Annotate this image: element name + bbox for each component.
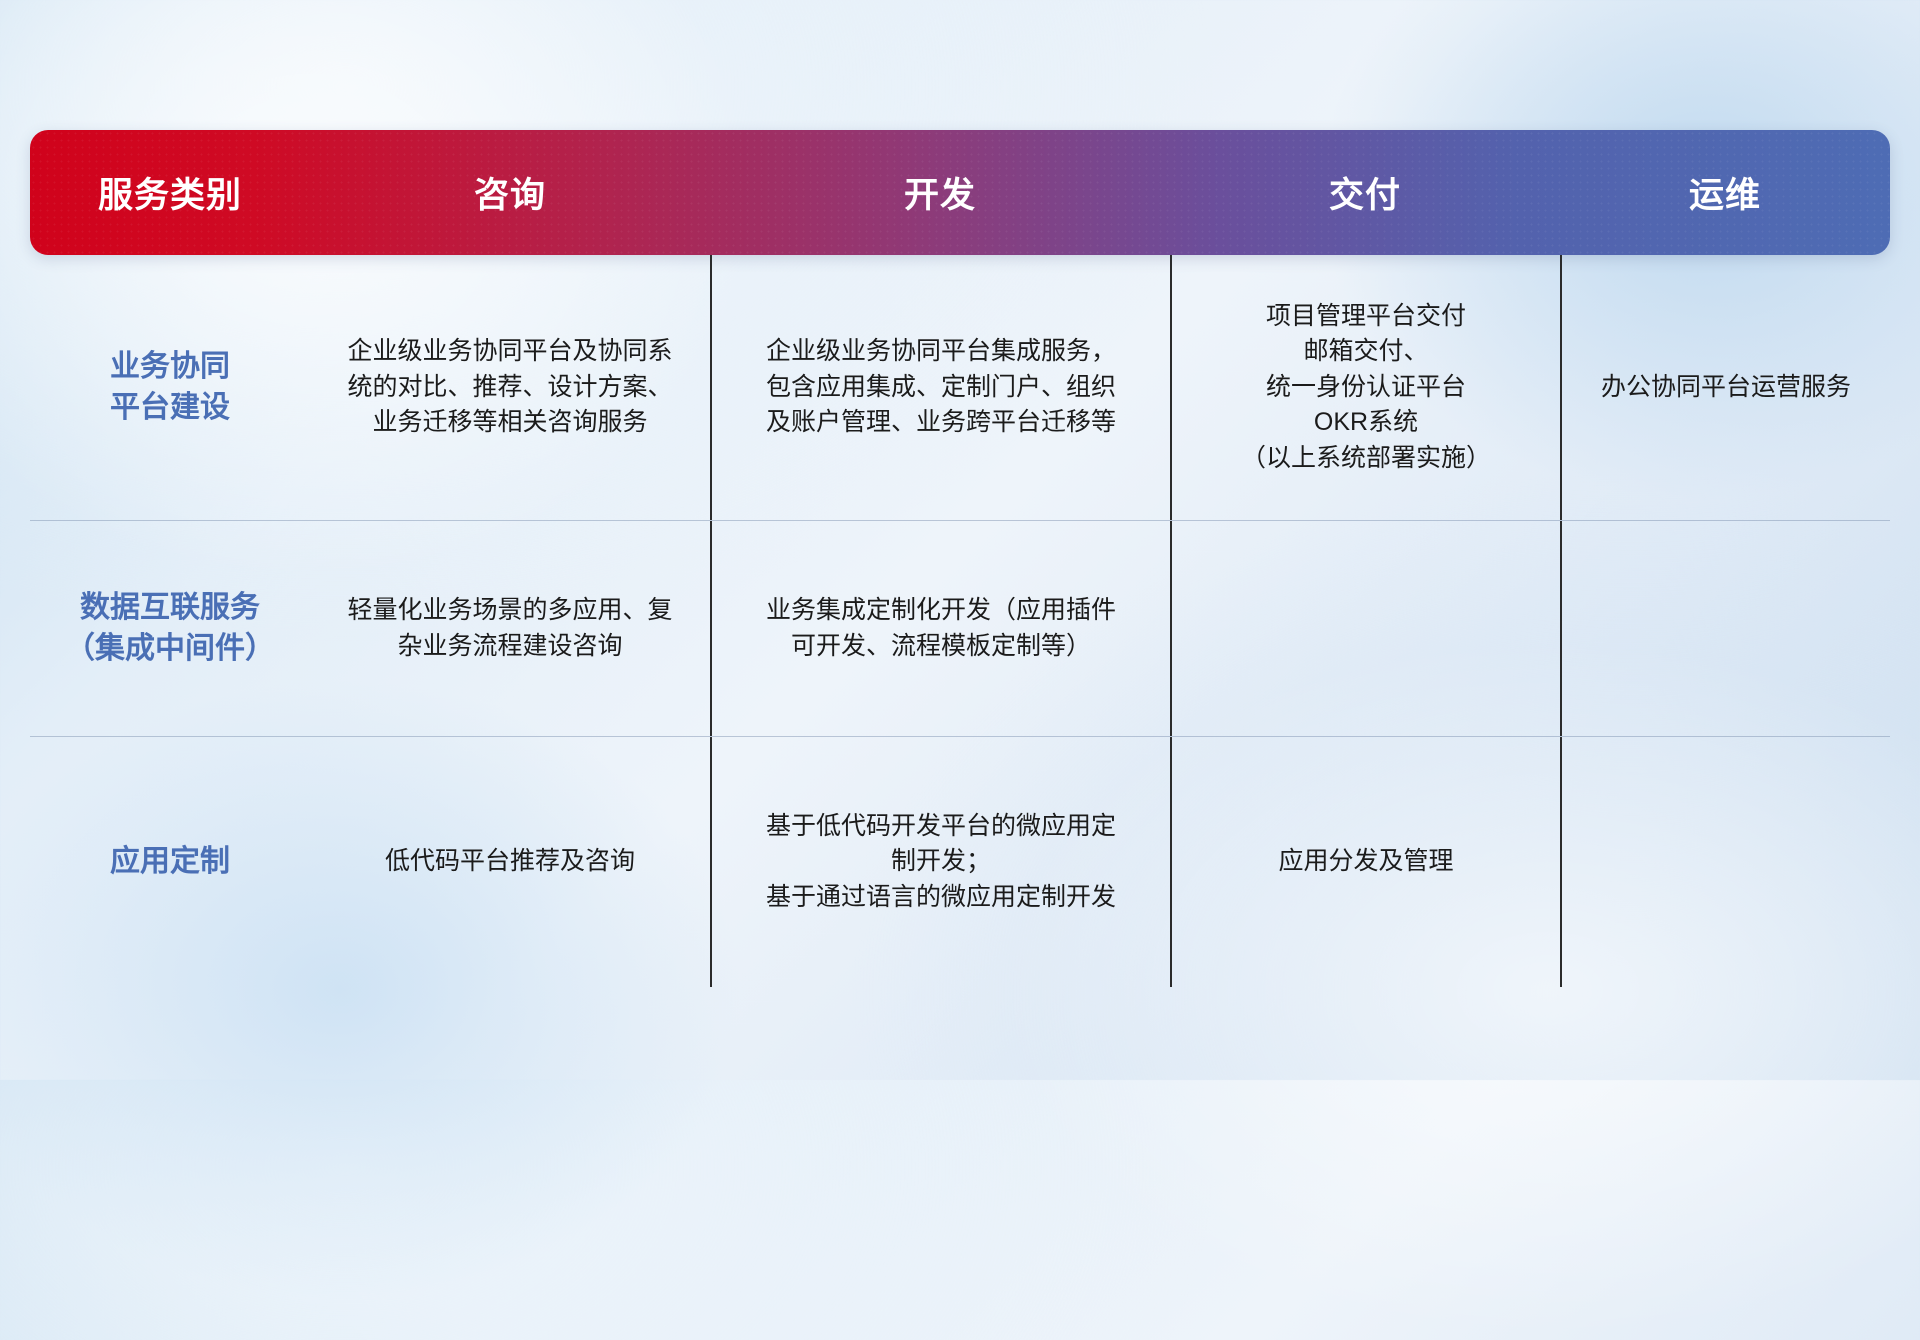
cell-category: 应用定制 — [30, 737, 310, 987]
cell-delivery: 项目管理平台交付 邮箱交付、 统一身份认证平台 OKR系统 （以上系统部署实施） — [1170, 255, 1560, 520]
cell-operations — [1560, 737, 1890, 987]
cell-consulting: 企业级业务协同平台及协同系 统的对比、推荐、设计方案、 业务迁移等相关咨询服务 — [310, 255, 710, 520]
cell-delivery — [1170, 521, 1560, 736]
cell-delivery: 应用分发及管理 — [1170, 737, 1560, 987]
cell-consulting: 低代码平台推荐及咨询 — [310, 737, 710, 987]
table-row: 业务协同 平台建设 企业级业务协同平台及协同系 统的对比、推荐、设计方案、 业务… — [30, 255, 1890, 521]
table-row: 应用定制 低代码平台推荐及咨询 基于低代码开发平台的微应用定 制开发； 基于通过… — [30, 737, 1890, 987]
column-header-category: 服务类别 — [30, 167, 310, 218]
cell-category: 数据互联服务 （集成中间件） — [30, 521, 310, 736]
column-header-consulting: 咨询 — [310, 167, 710, 218]
service-category-table: 服务类别 咨询 开发 交付 运维 业务协同 平台建设 企业级业务协同平台及协同系… — [30, 130, 1890, 987]
column-header-development: 开发 — [710, 167, 1170, 218]
cell-development: 企业级业务协同平台集成服务， 包含应用集成、定制门户、组织 及账户管理、业务跨平… — [710, 255, 1170, 520]
table-row: 数据互联服务 （集成中间件） 轻量化业务场景的多应用、复 杂业务流程建设咨询 业… — [30, 521, 1890, 737]
cell-operations — [1560, 521, 1890, 736]
cell-category: 业务协同 平台建设 — [30, 255, 310, 520]
cell-operations: 办公协同平台运营服务 — [1560, 255, 1890, 520]
table-body: 业务协同 平台建设 企业级业务协同平台及协同系 统的对比、推荐、设计方案、 业务… — [30, 255, 1890, 987]
column-header-operations: 运维 — [1560, 167, 1890, 218]
cell-development: 基于低代码开发平台的微应用定 制开发； 基于通过语言的微应用定制开发 — [710, 737, 1170, 987]
column-header-delivery: 交付 — [1170, 167, 1560, 218]
cell-consulting: 轻量化业务场景的多应用、复 杂业务流程建设咨询 — [310, 521, 710, 736]
table-header-row: 服务类别 咨询 开发 交付 运维 — [30, 130, 1890, 255]
cell-development: 业务集成定制化开发（应用插件 可开发、流程模板定制等） — [710, 521, 1170, 736]
